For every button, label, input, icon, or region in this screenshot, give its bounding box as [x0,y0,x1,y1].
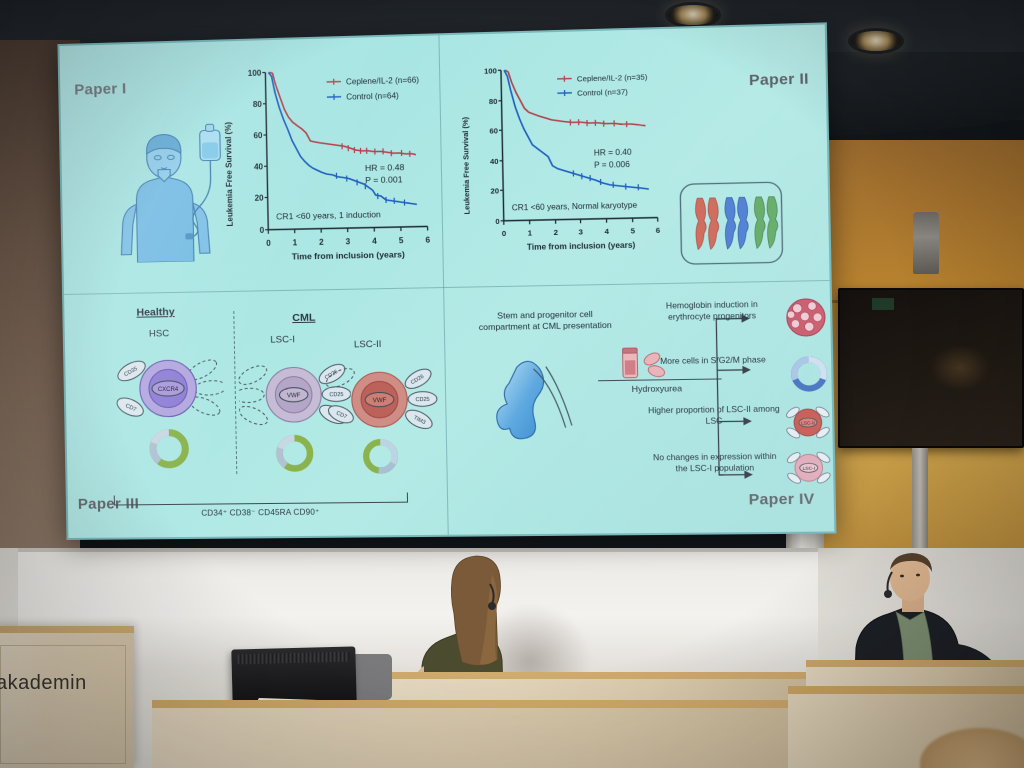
svg-text:100: 100 [248,69,262,78]
paper-4-diagram: Stem and progenitor cell compartment at … [452,290,837,539]
svg-text:VWF: VWF [373,398,387,404]
ceiling-spotlight-icon [848,28,904,54]
group-label-healthy: Healthy [136,306,174,319]
svg-text:60: 60 [253,131,263,140]
svg-text:40: 40 [490,157,499,166]
patient-illustration-icon [105,120,228,263]
svg-text:Ceplene/IL-2 (n=66): Ceplene/IL-2 (n=66) [346,75,420,86]
hydroxyurea-label: Hydroxyurea [632,383,683,394]
km-plot-paper-1: Leukemia Free Survival (%) 100 80 60 40 … [221,56,441,277]
cell-name-lsc2: LSC-II [354,339,382,351]
venue-name-text: akademin [0,672,87,695]
svg-text:HR = 0.48: HR = 0.48 [365,162,405,173]
ceiling-spotlight-icon [665,2,721,28]
km-plot-paper-2: Leukemia Free Survival (%) 100 80 60 40 … [457,54,669,267]
svg-text:4: 4 [604,227,609,236]
svg-text:0: 0 [495,217,499,226]
svg-text:Time from inclusion (years): Time from inclusion (years) [292,249,405,261]
lecture-hall-photo: Paper I [0,0,1024,768]
svg-text:0: 0 [502,229,507,238]
paper-2-label: Paper II [749,70,809,89]
projection-screen: Paper I [57,22,836,540]
erythrocyte-cluster-icon [783,296,828,343]
svg-text:3: 3 [346,237,351,246]
svg-text:0: 0 [266,239,271,248]
svg-text:2: 2 [319,238,324,247]
svg-text:3: 3 [578,227,583,236]
monitor-reflection [930,345,990,391]
svg-text:6: 6 [656,226,661,235]
svg-text:100: 100 [484,66,497,75]
svg-text:CD25: CD25 [415,397,429,403]
karyotype-box [678,180,785,271]
svg-text:Time from inclusion (years): Time from inclusion (years) [527,241,636,252]
monitor-vents [237,652,349,665]
svg-text:Leukemia Free Survival (%): Leukemia Free Survival (%) [224,121,235,226]
svg-text:6: 6 [425,235,430,244]
svg-text:40: 40 [254,162,264,171]
svg-text:P = 0.001: P = 0.001 [365,174,403,185]
svg-text:Control (n=64): Control (n=64) [346,91,399,101]
marker-caption: CD34⁺ CD38⁻ CD45RA CD90⁺ [114,507,408,519]
lsc2-outcome-icon: LSC-II [785,402,830,449]
paper4-outcome-text-3: Higher proportion of LSC-II among LSC [647,404,782,428]
svg-text:1: 1 [293,238,298,247]
front-desk-panel [152,700,792,768]
svg-text:P = 0.006: P = 0.006 [594,160,631,170]
svg-text:2: 2 [554,228,559,237]
svg-text:1: 1 [528,228,533,237]
group-label-cml: CML [292,312,315,325]
marker-bracket [114,493,408,506]
svg-text:CR1 <60 years, 1 induction: CR1 <60 years, 1 induction [276,209,381,221]
svg-text:20: 20 [255,194,265,203]
exit-sign-icon [872,298,894,310]
wall-speaker-icon [913,212,939,274]
paper-1-label: Paper I [74,80,127,98]
lectern [0,626,134,768]
svg-text:LSC-I: LSC-I [803,466,815,471]
paper4-outcome-text-4: No changes in expression within the LSC-… [647,452,782,476]
svg-text:80: 80 [489,97,498,106]
svg-text:HR = 0.40: HR = 0.40 [594,148,632,158]
paper4-source-text: Stem and progenitor cell compartment at … [472,308,618,334]
group-divider [233,311,237,474]
cell-lsc2-icon: CD26 CD25 TIM3 CD7 VWF [323,350,440,498]
cell-name-lsc1: LSC-I [270,334,295,345]
bone-marrow-icon [488,347,604,452]
svg-text:60: 60 [489,126,498,135]
cell-cycle-ring-icon [789,354,830,399]
svg-text:Leukemia Free Survival (%): Leukemia Free Survival (%) [461,116,472,214]
svg-text:Ceplene/IL-2 (n=35): Ceplene/IL-2 (n=35) [577,72,648,83]
svg-text:5: 5 [631,226,636,235]
svg-text:VWF: VWF [287,393,301,399]
cell-hsc-icon: CD35 CD7 CXCR4 [113,339,226,486]
paper4-outcome-text-1: Hemoglobin induction in erythrocyte prog… [645,299,780,324]
svg-text:0: 0 [260,226,265,235]
svg-text:Control (n=37): Control (n=37) [577,87,628,98]
monitor-stand [912,448,928,558]
lectern-panel [0,645,126,764]
svg-text:5: 5 [399,236,404,245]
svg-text:20: 20 [490,186,499,195]
svg-text:CR1 <60 years, Normal karyotyp: CR1 <60 years, Normal karyotype [512,201,638,213]
svg-text:80: 80 [253,100,263,109]
cell-name-hsc: HSC [149,328,169,339]
svg-text:LSC-II: LSC-II [801,420,815,425]
paper-3-diagram: Healthy CML HSC LSC-I LSC-II CD35 [72,297,448,540]
paper4-outcome-text-2: More cells in S/G2/M phase [646,355,781,368]
lsc1-outcome-icon: LSC-I [786,447,831,494]
svg-text:4: 4 [372,237,377,246]
svg-text:CXCR4: CXCR4 [158,387,179,393]
